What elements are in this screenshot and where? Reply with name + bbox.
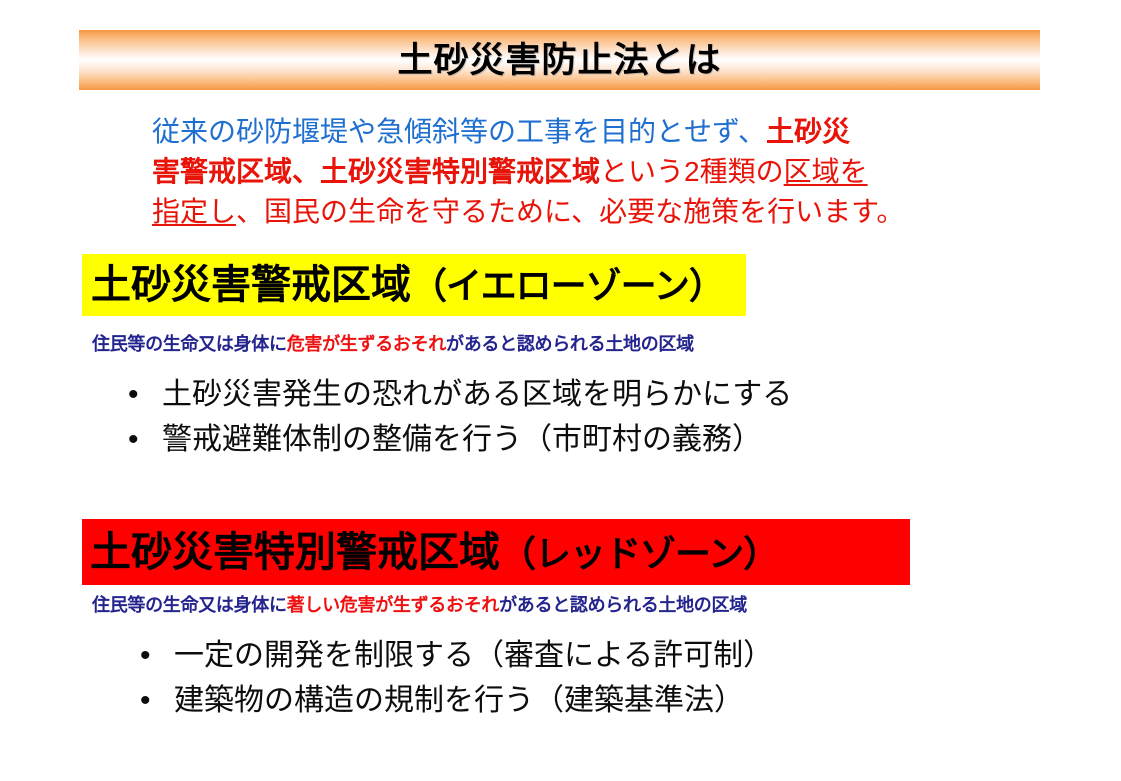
list-item: • 警戒避難体制の整備を行う（市町村の義務）	[128, 417, 792, 462]
list-item-label: 一定の開発を制限する（審査による許可制）	[174, 633, 773, 678]
title-banner: 土砂災害防止法とは	[79, 30, 1040, 90]
red-zone-banner-text: 土砂災害特別警戒区域（レッドゾーン）	[82, 532, 778, 573]
bullet-marker-icon: •	[140, 633, 174, 678]
red-zone-caption: 住民等の生命又は身体に著しい危害が生ずるおそれがあると認められる土地の区域	[92, 591, 747, 617]
intro-line2-red-bold: 害警戒区域、土砂災害特別警戒区域	[152, 156, 600, 187]
intro-line3-red-underline: 指定し	[152, 196, 236, 227]
bullet-marker-icon: •	[128, 372, 162, 417]
red-zone-banner-kana: （レッドゾーン）	[500, 533, 778, 574]
yellow-zone-banner-main: 土砂災害警戒区域	[91, 263, 411, 307]
intro-paragraph: 従来の砂防堰堤や急傾斜等の工事を目的とせず、土砂災 害警戒区域、土砂災害特別警戒…	[152, 112, 1012, 231]
yellow-zone-banner: 土砂災害警戒区域（イエローゾーン）	[82, 254, 746, 316]
intro-line1-red-bold: 土砂災	[766, 116, 850, 147]
slide-canvas: 土砂災害防止法とは 従来の砂防堰堤や急傾斜等の工事を目的とせず、土砂災 害警戒区…	[0, 0, 1121, 781]
page-title: 土砂災害防止法とは	[397, 43, 721, 78]
intro-line-1: 従来の砂防堰堤や急傾斜等の工事を目的とせず、土砂災	[152, 112, 1012, 152]
list-item: • 一定の開発を制限する（審査による許可制）	[140, 633, 773, 678]
yellow-zone-caption-pre: 住民等の生命又は身体に	[92, 334, 287, 354]
red-zone-caption-highlight: 著しい危害が生ずるおそれ	[287, 595, 499, 615]
list-item-label: 建築物の構造の規制を行う（建築基準法）	[174, 678, 744, 723]
intro-line-2: 害警戒区域、土砂災害特別警戒区域という2種類の区域を	[152, 152, 1012, 192]
yellow-zone-caption: 住民等の生命又は身体に危害が生ずるおそれがあると認められる土地の区域	[92, 330, 694, 356]
bullet-marker-icon: •	[140, 678, 174, 723]
list-item-label: 警戒避難体制の整備を行う（市町村の義務）	[162, 417, 762, 462]
intro-line2-red: という2種類の	[600, 156, 784, 187]
list-item: • 土砂災害発生の恐れがある区域を明らかにする	[128, 372, 792, 417]
red-zone-banner: 土砂災害特別警戒区域（レッドゾーン）	[82, 519, 910, 585]
intro-line2-red-underline: 区域を	[784, 156, 868, 187]
yellow-zone-banner-text: 土砂災害警戒区域（イエローゾーン）	[82, 265, 724, 305]
yellow-zone-banner-kana: （イエローゾーン）	[411, 265, 724, 306]
bullet-marker-icon: •	[128, 417, 162, 462]
red-zone-banner-main: 土砂災害特別警戒区域	[90, 529, 500, 575]
list-item: • 建築物の構造の規制を行う（建築基準法）	[140, 678, 773, 723]
intro-line-3: 指定し、国民の生命を守るために、必要な施策を行います。	[152, 192, 1012, 232]
intro-line3-red: 、国民の生命を守るために、必要な施策を行います。	[236, 196, 904, 227]
yellow-zone-caption-highlight: 危害が生ずるおそれ	[287, 334, 446, 354]
red-zone-caption-post: があると認められる土地の区域	[499, 595, 747, 615]
red-zone-bullet-list: • 一定の開発を制限する（審査による許可制） • 建築物の構造の規制を行う（建築…	[140, 633, 773, 723]
list-item-label: 土砂災害発生の恐れがある区域を明らかにする	[162, 372, 792, 417]
yellow-zone-caption-post: があると認められる土地の区域	[446, 334, 694, 354]
intro-line1-blue: 従来の砂防堰堤や急傾斜等の工事を目的とせず、	[152, 116, 766, 147]
red-zone-caption-pre: 住民等の生命又は身体に	[92, 595, 287, 615]
yellow-zone-bullet-list: • 土砂災害発生の恐れがある区域を明らかにする • 警戒避難体制の整備を行う（市…	[128, 372, 792, 462]
